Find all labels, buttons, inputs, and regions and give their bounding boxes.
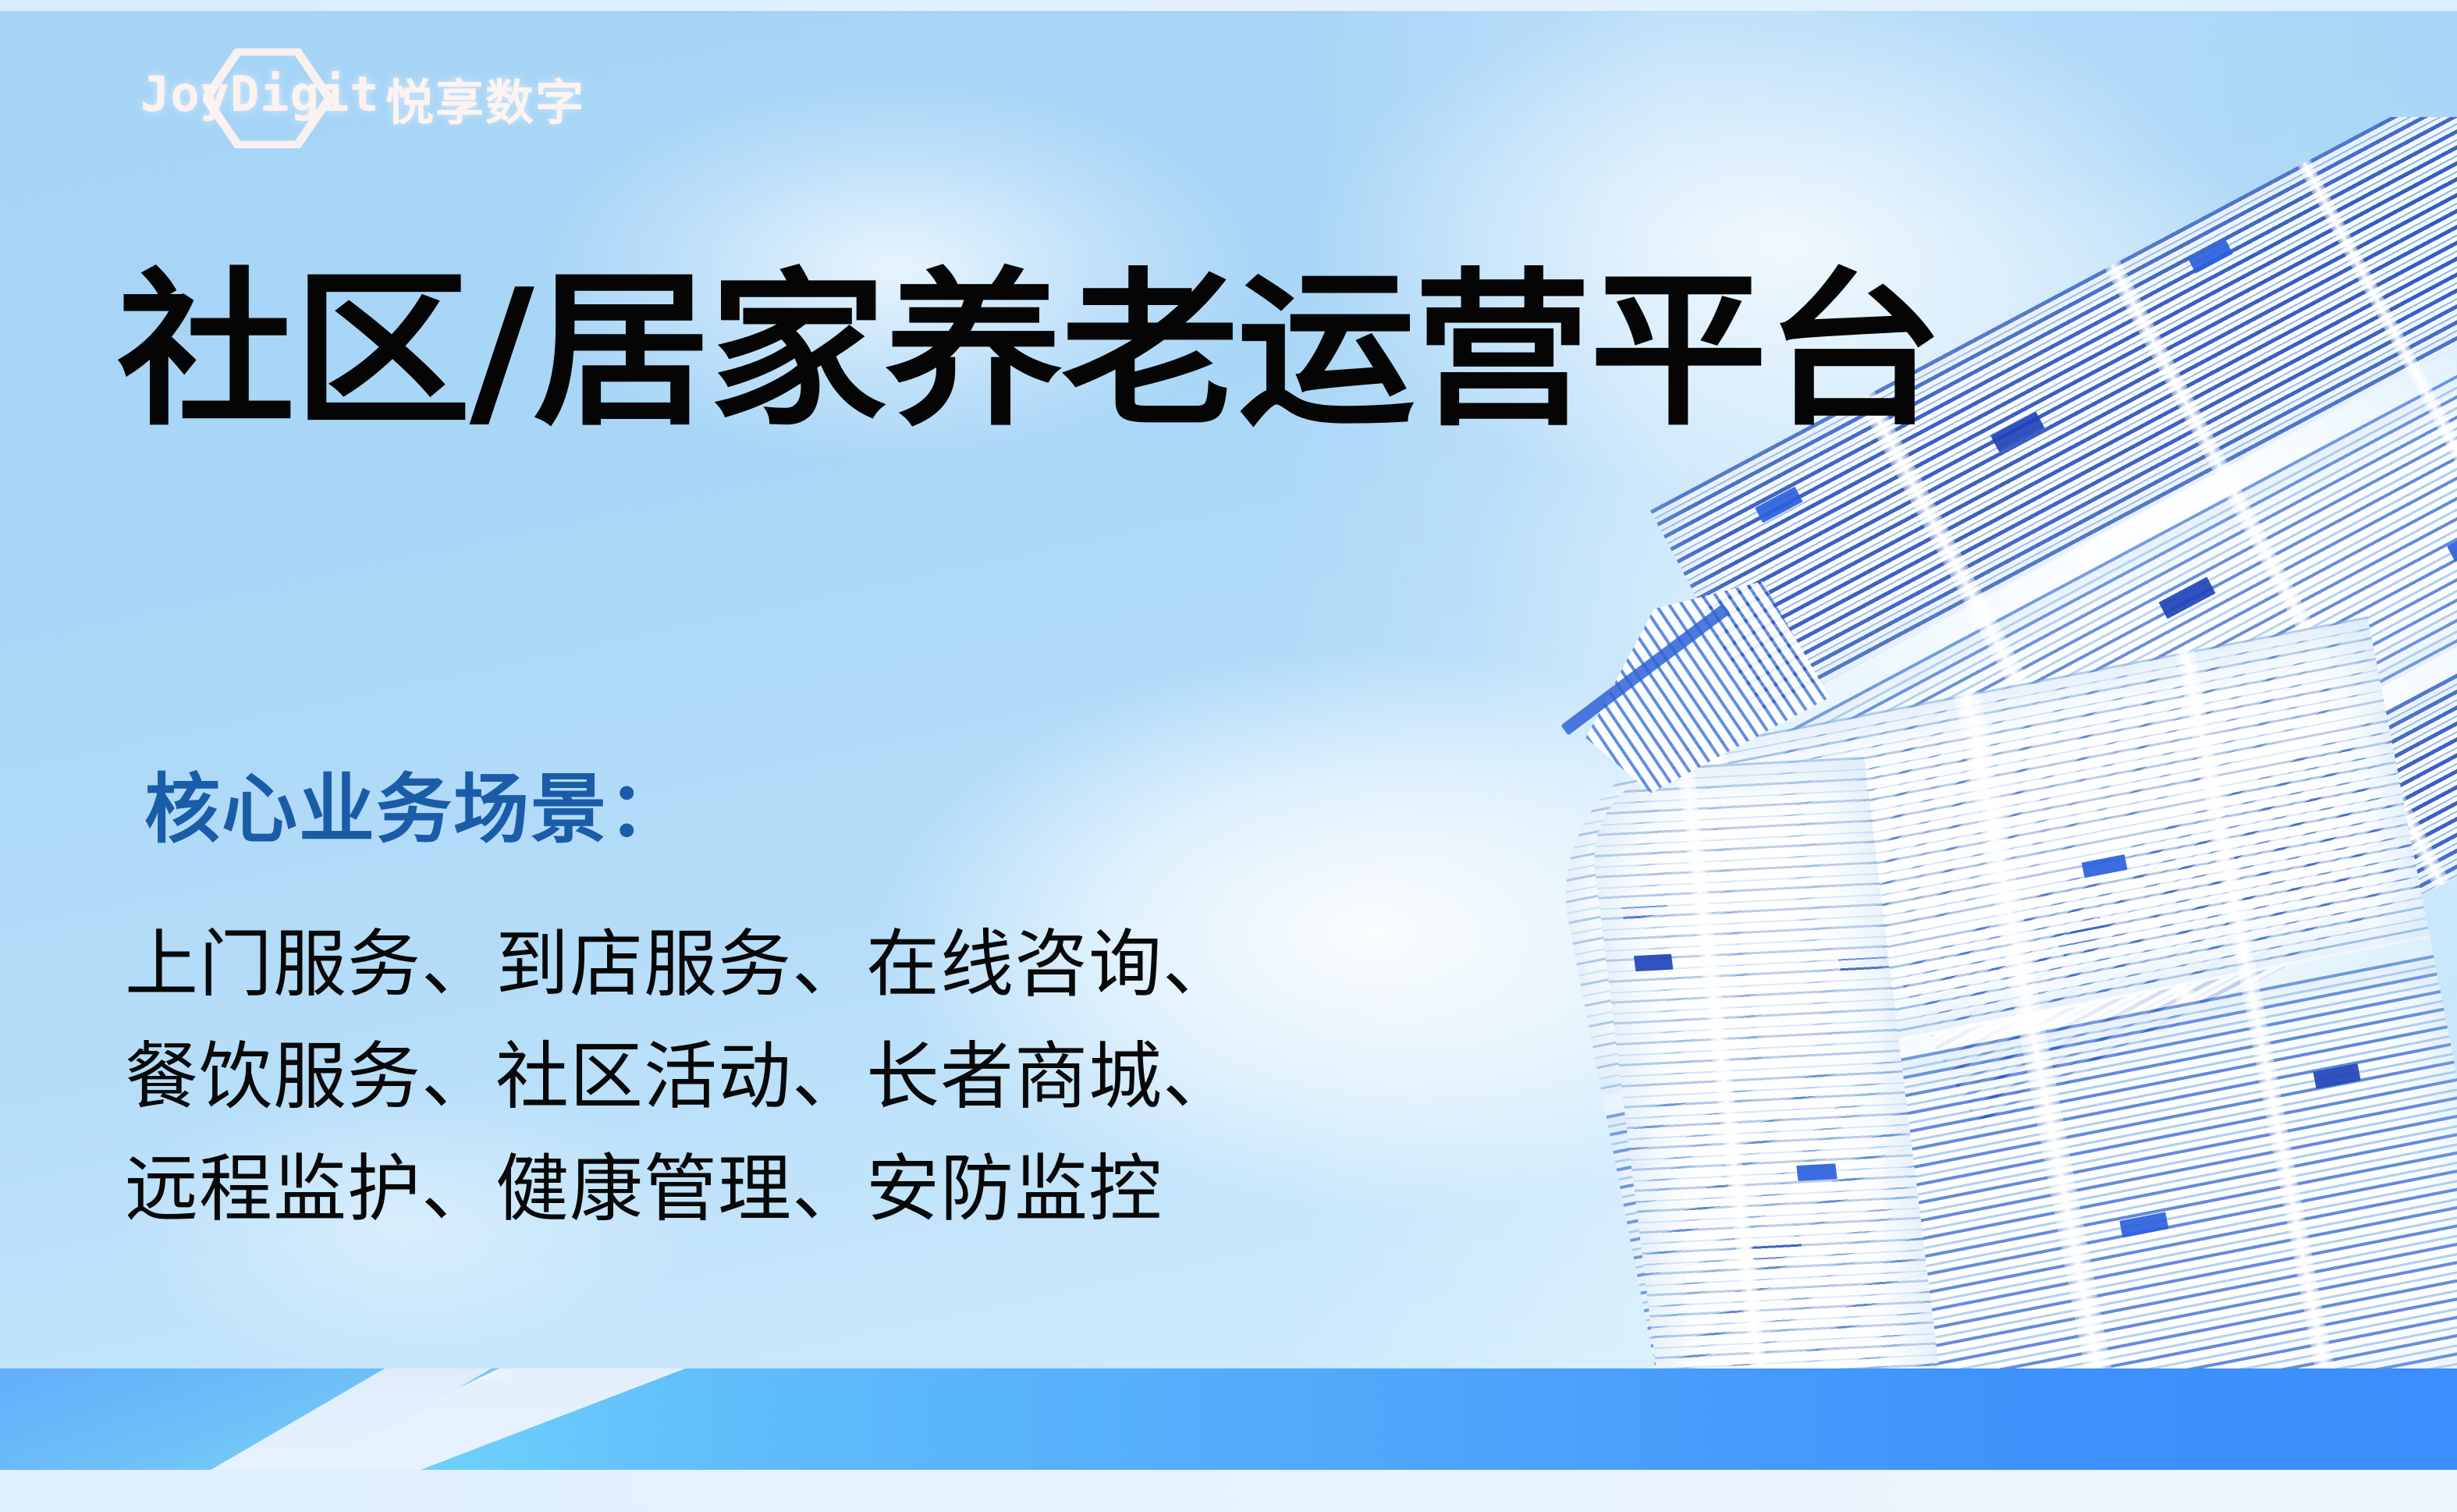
logo-wordmark: JoyDigit [140,70,380,119]
section-heading: 核心业务场景： [144,768,685,852]
logo-mark: JoyDigit [140,51,375,145]
slide-canvas: JoyDigit 悦享数字 社区/居家养老运营平台 核心业务场景： 上门服务、到… [0,0,2457,1512]
brand-logo: JoyDigit 悦享数字 [140,51,585,145]
scenario-line-3: 远程监护、健康管理、安防监控 [125,1134,1237,1246]
band-shape-right [336,1368,2457,1470]
scenario-line-2: 餐饮服务、社区活动、长者商城、 [125,1021,1237,1134]
page-title: 社区/居家养老运营平台 [117,257,1942,445]
logo-chinese-name: 悦享数字 [385,63,585,133]
band-base-strip [0,1470,2457,1512]
scenario-line-1: 上门服务、到店服务、在线咨询、 [125,909,1237,1021]
scenario-list: 上门服务、到店服务、在线咨询、 餐饮服务、社区活动、长者商城、 远程监护、健康管… [125,909,1237,1245]
top-accent-strip [0,0,2457,11]
bottom-decoration-band [0,1368,2457,1512]
